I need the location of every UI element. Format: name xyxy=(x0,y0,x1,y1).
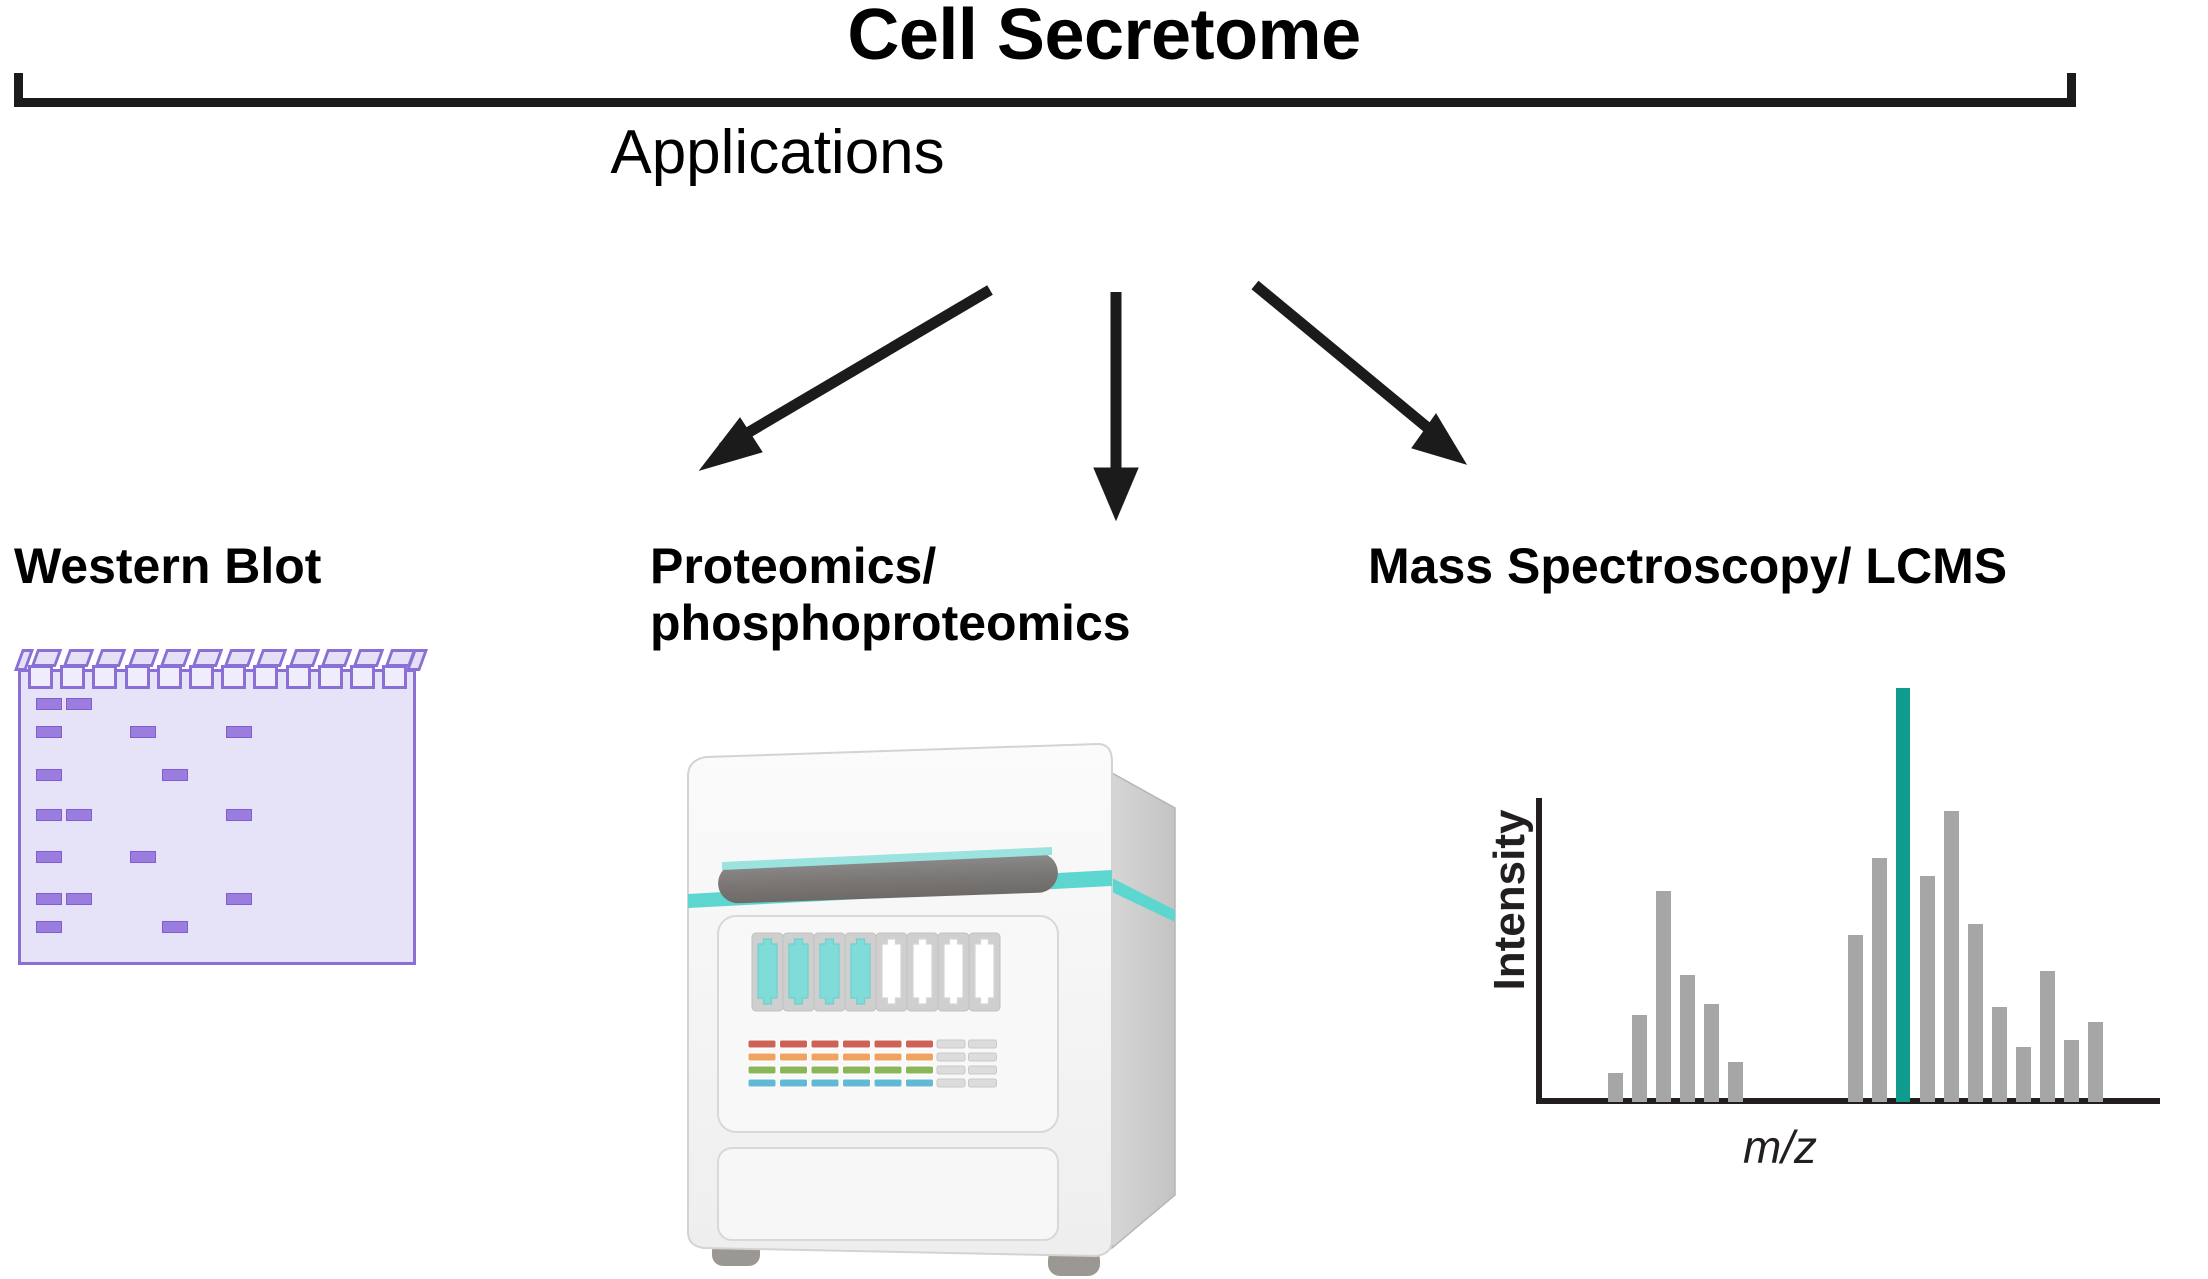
instrument-vial-bays xyxy=(752,933,1000,1011)
gel-band xyxy=(162,921,188,933)
vial-filled xyxy=(820,939,839,1004)
indicator-bar xyxy=(811,1066,839,1074)
gel-well-cap xyxy=(95,649,127,667)
scope-bracket xyxy=(14,73,2076,107)
gel-band xyxy=(66,698,92,710)
arrow-to-western-blot xyxy=(700,290,990,470)
vial-filled xyxy=(758,939,777,1004)
indicator-bar xyxy=(906,1040,934,1048)
gel-band xyxy=(36,809,62,821)
gel-band xyxy=(162,769,188,781)
gel-well-cap xyxy=(192,649,224,667)
gel-band xyxy=(36,726,62,738)
indicator-bar xyxy=(906,1066,934,1074)
spectrum-peak xyxy=(2040,971,2055,1102)
gel-band xyxy=(36,698,62,710)
gel-band xyxy=(36,769,62,781)
spectrum-peak xyxy=(2016,1047,2031,1102)
spectrum-peak xyxy=(1608,1073,1623,1102)
indicator-bar xyxy=(748,1079,776,1087)
spectrum-peak xyxy=(1848,935,1863,1102)
vial-empty xyxy=(944,939,963,1004)
indicator-bar xyxy=(906,1079,934,1087)
spectrum-peak-highlight xyxy=(1896,688,1910,1102)
spectrum-peak xyxy=(1704,1004,1719,1102)
spectrum-peak xyxy=(1944,811,1959,1102)
indicator-bar xyxy=(748,1066,776,1074)
spectrum-peak xyxy=(1872,858,1887,1102)
gel-band xyxy=(130,726,156,738)
indicator-bar xyxy=(937,1066,965,1074)
gel-well-cap xyxy=(288,649,320,667)
vial-empty xyxy=(882,939,901,1004)
vial-empty xyxy=(975,939,994,1004)
indicator-bar xyxy=(780,1079,808,1087)
indicator-bar xyxy=(969,1079,997,1087)
spectrum-peak xyxy=(2064,1040,2079,1102)
indicator-bar xyxy=(811,1053,839,1061)
gel-well-cap xyxy=(63,649,95,667)
gel-band xyxy=(66,809,92,821)
spectrum-peak xyxy=(1968,924,1983,1102)
western-blot-title: Western Blot xyxy=(14,538,321,595)
indicator-bar xyxy=(906,1053,934,1061)
spectrum-plot-area xyxy=(1536,730,2160,1102)
gel-well-cap xyxy=(321,649,353,667)
indicator-bar xyxy=(937,1079,965,1087)
indicator-bar xyxy=(874,1079,902,1087)
indicator-bar xyxy=(937,1040,965,1048)
gel-band xyxy=(36,893,62,905)
mass-spectrometer-icon xyxy=(660,740,1230,1279)
indicator-bar xyxy=(969,1040,997,1048)
proteomics-title-line1: Proteomics/ xyxy=(650,538,1350,595)
indicator-bar xyxy=(874,1040,902,1048)
indicator-bar xyxy=(748,1040,776,1048)
spectrum-peak xyxy=(1920,876,1935,1102)
gel-band xyxy=(226,726,252,738)
gel-electrophoresis-icon xyxy=(18,645,428,970)
y-axis-label: Intensity xyxy=(1485,780,1535,1020)
arrow-to-mass-spec xyxy=(1255,285,1466,464)
spectrum-peak xyxy=(1632,1015,1647,1102)
mass-spec-title: Mass Spectroscopy/ LCMS xyxy=(1368,538,2007,595)
vial-empty xyxy=(913,939,932,1004)
vial-filled xyxy=(851,939,870,1004)
gel-well-cap xyxy=(256,649,288,667)
spectrum-peak xyxy=(1728,1062,1743,1102)
mass-spectrum-chart: Intensity m/z xyxy=(1450,700,2190,1220)
gel-well-cap xyxy=(127,649,159,667)
page-title: Cell Secretome xyxy=(0,0,2208,74)
indicator-bar xyxy=(843,1079,871,1087)
applications-label: Applications xyxy=(0,120,1555,185)
gel-band xyxy=(36,921,62,933)
gel-well-cap xyxy=(160,649,192,667)
spectrum-peak xyxy=(2088,1022,2103,1102)
gel-band xyxy=(130,851,156,863)
indicator-bar xyxy=(969,1066,997,1074)
indicator-bar xyxy=(843,1066,871,1074)
indicator-bar xyxy=(780,1040,808,1048)
indicator-bar xyxy=(937,1053,965,1061)
indicator-bar xyxy=(748,1053,776,1061)
indicator-bar xyxy=(969,1053,997,1061)
gel-well-cap xyxy=(353,649,385,667)
indicator-bar xyxy=(874,1053,902,1061)
instrument-side-panel xyxy=(1112,773,1175,1248)
cell-secretome-figure: Cell Secretome Applications Western Blot xyxy=(0,0,2208,1279)
instrument-lower-drawer xyxy=(718,1148,1058,1240)
gel-band xyxy=(226,893,252,905)
gel-band xyxy=(226,809,252,821)
gel-well-cap xyxy=(224,649,256,667)
arrow-to-proteomics xyxy=(1094,292,1138,520)
indicator-bar xyxy=(780,1066,808,1074)
indicator-bar xyxy=(811,1079,839,1087)
vial-filled xyxy=(789,939,808,1004)
gel-band xyxy=(36,851,62,863)
indicator-bar xyxy=(780,1053,808,1061)
gel-band-group xyxy=(18,669,416,965)
indicator-bar xyxy=(843,1040,871,1048)
proteomics-title-line2: phosphoproteomics xyxy=(650,595,1350,652)
proteomics-title: Proteomics/ phosphoproteomics xyxy=(650,538,1350,652)
spectrum-peak xyxy=(1992,1007,2007,1102)
gel-band xyxy=(66,893,92,905)
indicator-bar xyxy=(874,1066,902,1074)
spectrum-peak xyxy=(1680,975,1695,1102)
indicator-bar xyxy=(843,1053,871,1061)
indicator-bar xyxy=(811,1040,839,1048)
spectrum-peak xyxy=(1656,891,1671,1102)
gel-well-cap xyxy=(31,649,63,667)
x-axis-label: m/z xyxy=(1680,1120,1880,1174)
